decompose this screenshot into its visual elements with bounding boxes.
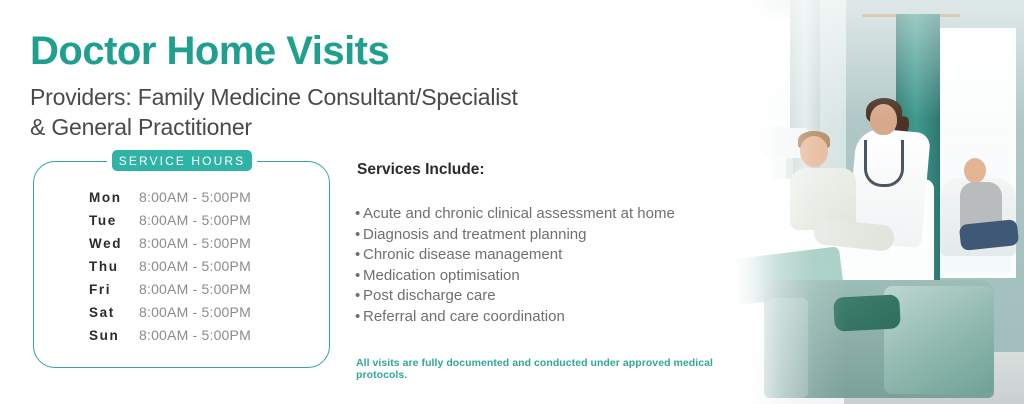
list-item-label: Acute and chronic clinical assessment at… xyxy=(363,205,675,222)
hours-day-label: Sat xyxy=(89,305,139,320)
bullet-icon: • xyxy=(355,204,363,225)
hours-time-value: 8:00AM - 5:00PM xyxy=(139,304,251,320)
home-visit-photo xyxy=(694,0,1024,404)
hours-row: Thu 8:00AM - 5:00PM xyxy=(33,258,330,281)
list-item-label: Medication optimisation xyxy=(363,267,520,284)
page-title: Doctor Home Visits xyxy=(30,30,389,72)
hours-row: Sun 8:00AM - 5:00PM xyxy=(33,327,330,350)
services-heading: Services Include: xyxy=(357,161,485,179)
hours-time-value: 8:00AM - 5:00PM xyxy=(139,235,251,251)
doctor-home-visits-banner: Doctor Home Visits Providers: Family Med… xyxy=(0,0,1024,404)
bullet-icon: • xyxy=(355,266,363,287)
services-list: •Acute and chronic clinical assessment a… xyxy=(355,204,675,328)
hours-time-value: 8:00AM - 5:00PM xyxy=(139,189,251,205)
providers-subtitle: Providers: Family Medicine Consultant/Sp… xyxy=(30,82,518,143)
hours-day-label: Fri xyxy=(89,282,139,297)
hours-day-label: Thu xyxy=(89,259,139,274)
bullet-icon: • xyxy=(355,307,363,328)
content-area: Doctor Home Visits Providers: Family Med… xyxy=(0,0,720,404)
list-item: •Acute and chronic clinical assessment a… xyxy=(355,204,675,225)
service-hours-list: Mon 8:00AM - 5:00PM Tue 8:00AM - 5:00PM … xyxy=(33,189,330,350)
list-item-label: Chronic disease management xyxy=(363,246,562,263)
list-item: •Post discharge care xyxy=(355,286,675,307)
hours-time-value: 8:00AM - 5:00PM xyxy=(139,327,251,343)
hours-day-label: Wed xyxy=(89,236,139,251)
hours-row: Tue 8:00AM - 5:00PM xyxy=(33,212,330,235)
bullet-icon: • xyxy=(355,286,363,307)
hours-time-value: 8:00AM - 5:00PM xyxy=(139,281,251,297)
hours-time-value: 8:00AM - 5:00PM xyxy=(139,212,251,228)
hours-time-value: 8:00AM - 5:00PM xyxy=(139,258,251,274)
service-hours-card: SERVICE HOURS Mon 8:00AM - 5:00PM Tue 8:… xyxy=(33,161,330,368)
photo-left-fade xyxy=(694,0,1024,404)
hours-day-label: Mon xyxy=(89,190,139,205)
list-item: •Medication optimisation xyxy=(355,266,675,287)
hours-row: Fri 8:00AM - 5:00PM xyxy=(33,281,330,304)
list-item: •Chronic disease management xyxy=(355,245,675,266)
bullet-icon: • xyxy=(355,225,363,246)
bullet-icon: • xyxy=(355,245,363,266)
subtitle-line-2: & General Practitioner xyxy=(30,114,252,140)
list-item-label: Referral and care coordination xyxy=(363,308,565,325)
hours-row: Mon 8:00AM - 5:00PM xyxy=(33,189,330,212)
hours-row: Sat 8:00AM - 5:00PM xyxy=(33,304,330,327)
service-hours-badge: SERVICE HOURS xyxy=(112,150,252,171)
list-item: •Diagnosis and treatment planning xyxy=(355,225,675,246)
list-item-label: Diagnosis and treatment planning xyxy=(363,226,586,243)
subtitle-line-1: Providers: Family Medicine Consultant/Sp… xyxy=(30,84,518,110)
list-item: •Referral and care coordination xyxy=(355,307,675,328)
hours-day-label: Tue xyxy=(89,213,139,228)
list-item-label: Post discharge care xyxy=(363,287,496,304)
compliance-footnote: All visits are fully documented and cond… xyxy=(356,357,720,381)
hours-day-label: Sun xyxy=(89,328,139,343)
hours-row: Wed 8:00AM - 5:00PM xyxy=(33,235,330,258)
